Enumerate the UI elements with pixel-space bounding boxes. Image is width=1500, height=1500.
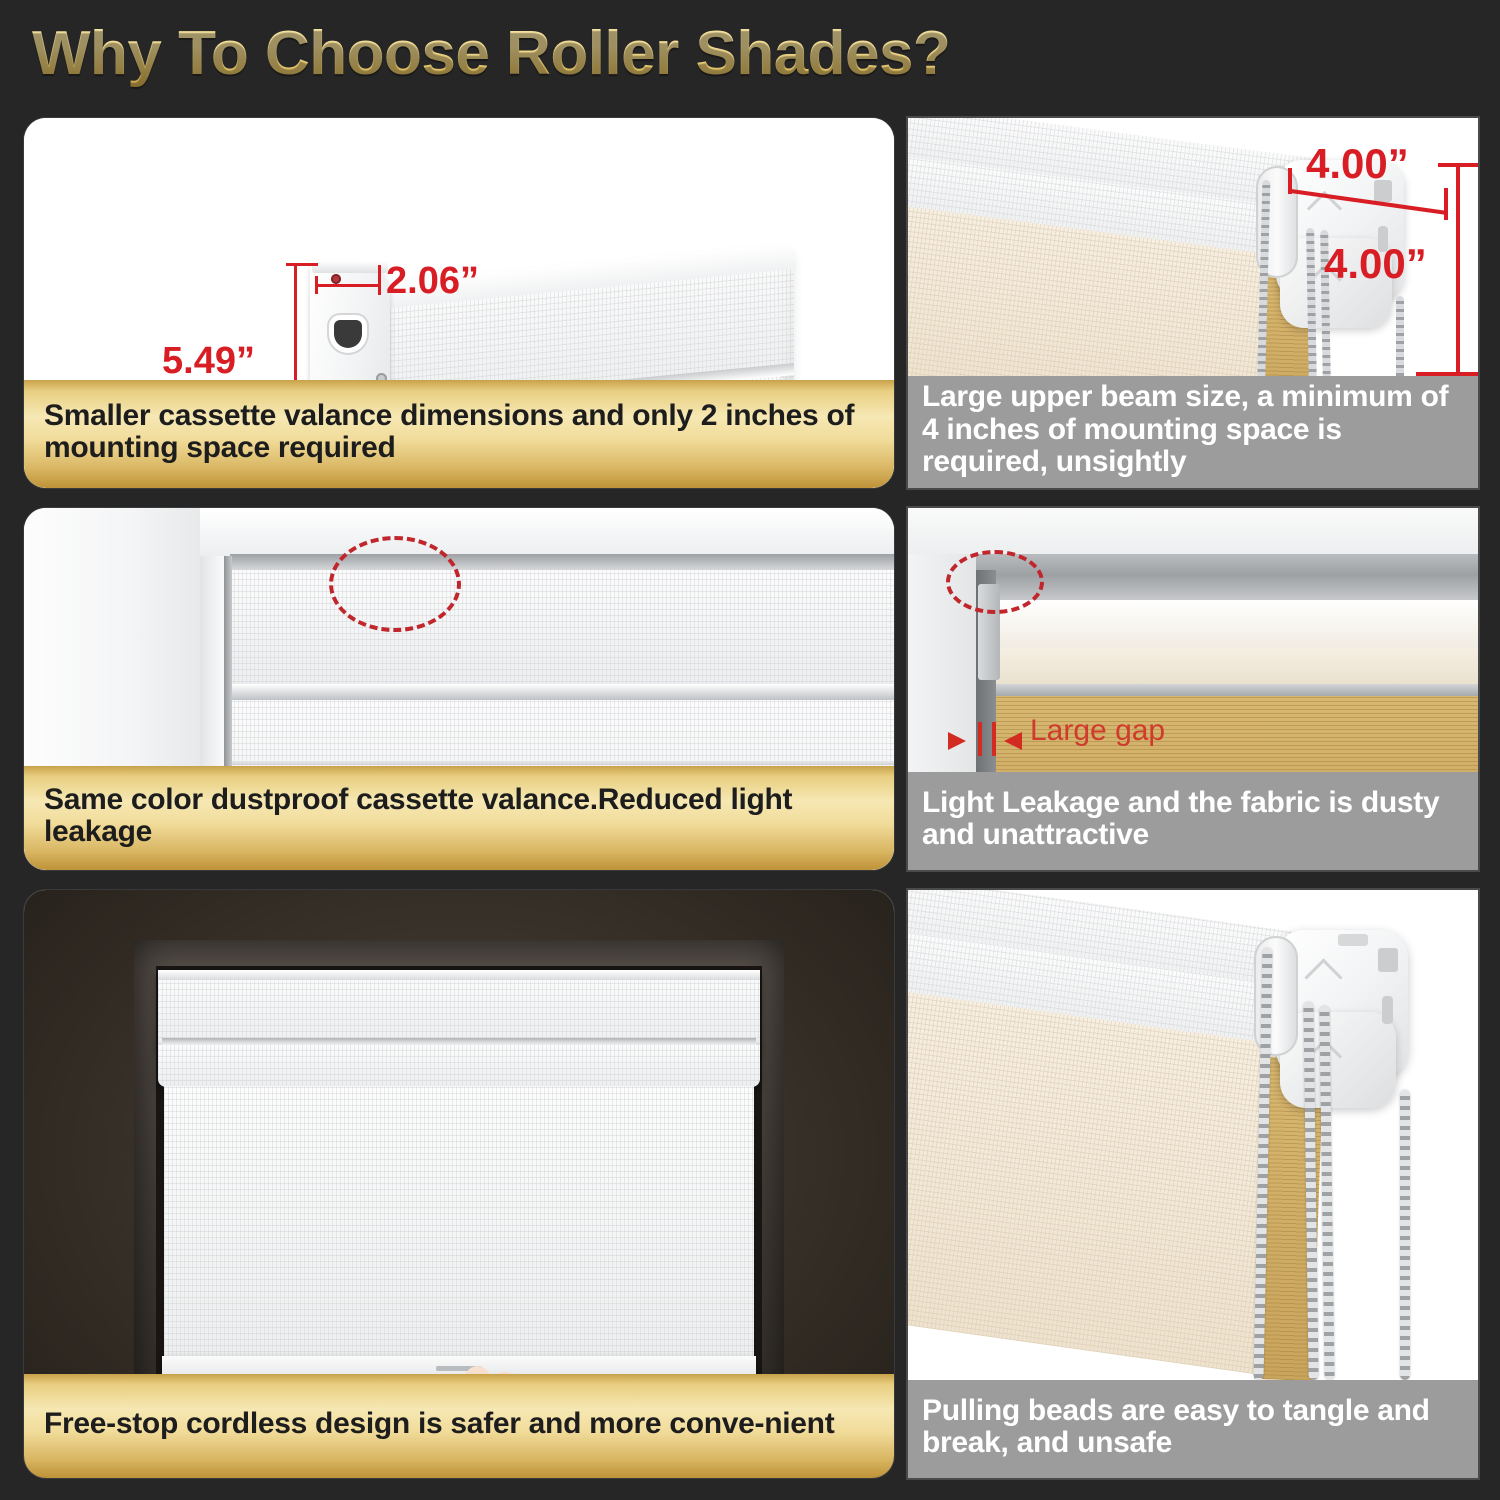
width-dim-cap-left [315,276,318,294]
gap-arrow-right-icon [1004,732,1022,750]
gap-tick-a [978,722,982,756]
header-bar: Why To Choose Roller Shades? [0,0,1500,112]
caption-text: Free-stop cordless design is safer and m… [44,1408,834,1440]
panel-caption-bad-1: Large upper beam size, a minimum of 4 in… [908,376,1478,488]
height-dimension-label: 5.49” [162,340,255,383]
panel-caption-bad-3: Pulling beads are easy to tangle and bre… [908,1380,1478,1478]
panel-dustproof-cassette-valance: smaller gap Same color dustproof cassett… [24,508,894,870]
screw-upper-icon [331,274,341,284]
panel-cassette-valance-dimensions: 2.06” 5.49” Smaller cassette valance dim… [24,118,894,488]
width-dim-line [316,284,380,287]
width-dimension-label: 2.06” [386,260,479,303]
bracket-notch-icon [1338,934,1368,946]
shade-rail-separator [230,684,894,700]
cassette-bottom-lip [158,1045,760,1087]
gap-tick-b [992,722,996,756]
cassette-valance-rail [230,554,894,570]
bracket-top-lip [312,261,388,273]
cassette-head-top-edge [158,970,760,980]
height-dim-cap-top [286,263,318,266]
large-gap-label: Large gap [1030,714,1165,748]
beam-height-dim-line [1456,164,1460,374]
beam-width-cap-right [1444,188,1448,220]
panel-light-leakage: Large gap Light Leakage and the fabric i… [908,508,1478,870]
bracket-slot-b-icon [1382,996,1393,1024]
shade-fabric-seam [230,762,894,765]
panel-caption-good-3: Free-stop cordless design is safer and m… [24,1374,894,1478]
caption-text: Light Leakage and the fabric is dusty an… [922,787,1464,852]
window-frame-head [200,508,894,556]
gap-highlight-ellipse [946,550,1044,614]
beam-width-dimension-label: 4.00” [1306,140,1409,188]
head-rail [970,554,1478,606]
caption-text: Smaller cassette valance dimensions and … [44,400,874,465]
panel-caption-good-1: Smaller cassette valance dimensions and … [24,380,894,488]
width-dim-cap-right [378,265,381,295]
beige-band [994,648,1478,686]
caption-text: Same color dustproof cassette valance.Re… [44,784,874,849]
shade-fabric-panel [164,1086,754,1376]
beam-height-dimension-label: 4.00” [1324,240,1427,288]
bottom-bar [994,684,1478,696]
bracket-slot-a-icon [1378,948,1398,972]
beam-height-cap-top [1438,163,1478,167]
panel-free-stop-cordless: Free-stop cordless design is safer and m… [24,890,894,1478]
panel-caption-good-2: Same color dustproof cassette valance.Re… [24,766,894,870]
ceiling-surface [908,508,1478,556]
gap-arrow-left-icon [948,732,966,750]
caption-text: Large upper beam size, a minimum of 4 in… [922,381,1464,478]
panel-pulling-beads: Pulling beads are easy to tangle and bre… [908,890,1478,1478]
clutch-port-icon [334,320,362,348]
cassette-head-groove [162,1038,756,1045]
beam-width-cap-left [1288,168,1292,194]
page-title: Why To Choose Roller Shades? [32,18,950,89]
caption-text: Pulling beads are easy to tangle and bre… [922,1395,1464,1460]
panel-large-upper-beam: 4.00” 4.00” Large upper beam size, a min… [908,118,1478,488]
gap-highlight-ellipse [329,536,461,632]
bead-chain-4 [1400,1090,1410,1380]
panel-caption-bad-2: Light Leakage and the fabric is dusty an… [908,772,1478,870]
